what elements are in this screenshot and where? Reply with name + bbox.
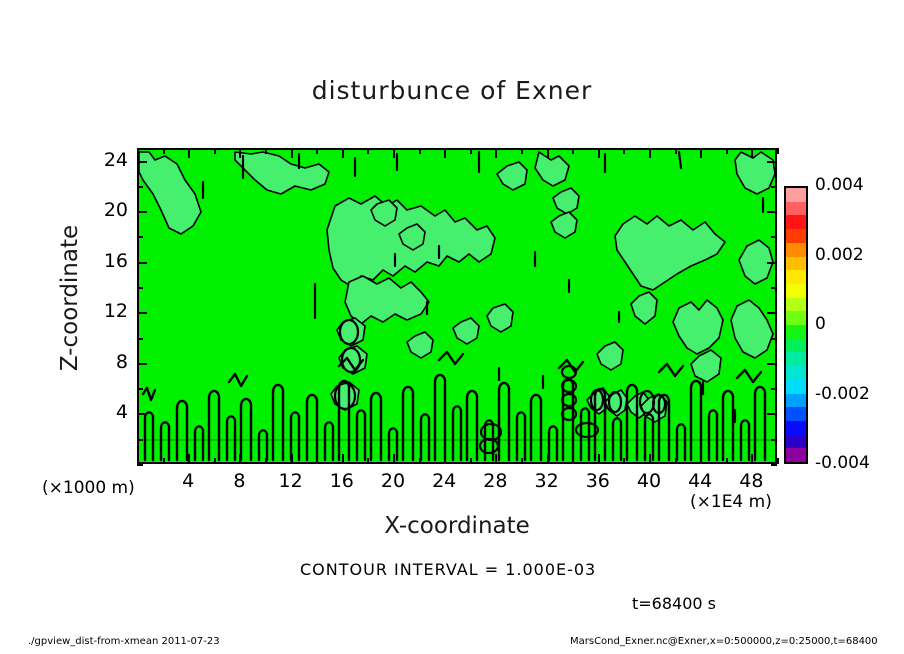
x-tick-mark (598, 454, 600, 464)
colorbar-band (786, 339, 806, 353)
x-tick-mark (291, 148, 293, 158)
colorbar (784, 186, 808, 464)
x-tick-mark (393, 454, 395, 464)
x-tick-mark (214, 458, 216, 464)
colorbar-band (786, 243, 806, 257)
x-tick-mark (495, 454, 497, 464)
y-tick-mark (771, 186, 777, 188)
x-tick-mark (547, 454, 549, 464)
y-tick-mark (771, 236, 777, 238)
x-tick-label: 4 (162, 470, 214, 492)
y-tick-mark (137, 363, 147, 365)
y-axis-unit-label: (×1000 m) (42, 478, 135, 498)
colorbar-band (786, 366, 806, 380)
x-axis-unit-label: (×1E4 m) (690, 492, 772, 512)
y-tick-mark (767, 413, 777, 415)
x-tick-mark (751, 148, 753, 158)
footer-source-label: MarsCond_Exner.nc@Exner,x=0:500000,z=0:2… (570, 636, 878, 647)
y-tick-mark (767, 312, 777, 314)
y-tick-mark (137, 287, 143, 289)
y-tick-mark (771, 287, 777, 289)
x-tick-mark (239, 454, 241, 464)
y-tick-mark (137, 413, 147, 415)
x-tick-mark (470, 148, 472, 154)
colorbar-tick-label: 0.002 (815, 245, 864, 265)
y-tick-mark (137, 236, 143, 238)
x-tick-label: 28 (469, 470, 521, 492)
x-tick-mark (444, 454, 446, 464)
x-tick-mark (419, 148, 421, 154)
colorbar-band (786, 202, 806, 216)
colorbar-band (786, 407, 806, 421)
x-tick-mark (316, 148, 318, 154)
x-tick-mark (316, 458, 318, 464)
y-tick-mark (767, 211, 777, 213)
x-tick-mark (700, 454, 702, 464)
x-tick-mark (163, 458, 165, 464)
x-tick-mark (623, 458, 625, 464)
x-tick-mark (239, 148, 241, 158)
x-tick-mark (547, 148, 549, 158)
colorbar-tick-label: -0.002 (815, 384, 870, 404)
y-tick-mark (767, 161, 777, 163)
time-label: t=68400 s (632, 594, 716, 613)
x-tick-mark (342, 454, 344, 464)
x-tick-mark (675, 458, 677, 464)
x-tick-mark (419, 458, 421, 464)
x-tick-mark (444, 148, 446, 158)
colorbar-band (786, 215, 806, 229)
x-tick-mark (367, 148, 369, 154)
y-tick-label: 20 (80, 199, 128, 221)
colorbar-band (786, 311, 806, 325)
x-tick-mark (777, 458, 779, 464)
y-tick-mark (771, 338, 777, 340)
colorbar-band (786, 298, 806, 312)
y-tick-label: 8 (80, 351, 128, 373)
y-tick-label: 24 (80, 149, 128, 171)
contour-plot-area (137, 148, 777, 464)
colorbar-band (786, 448, 806, 462)
x-tick-mark (393, 148, 395, 158)
colorbar-band (786, 352, 806, 366)
x-tick-label: 36 (572, 470, 624, 492)
y-tick-mark (137, 338, 143, 340)
x-tick-label: 40 (623, 470, 675, 492)
x-tick-label: 32 (521, 470, 573, 492)
x-tick-mark (649, 454, 651, 464)
colorbar-band (786, 229, 806, 243)
x-tick-label: 12 (265, 470, 317, 492)
x-tick-label: 24 (418, 470, 470, 492)
colorbar-band (786, 394, 806, 408)
x-tick-mark (367, 458, 369, 464)
y-tick-mark (137, 211, 147, 213)
x-tick-mark (572, 148, 574, 154)
x-tick-mark (470, 458, 472, 464)
x-tick-mark (598, 148, 600, 158)
colorbar-band (786, 325, 806, 339)
x-tick-mark (291, 454, 293, 464)
x-tick-mark (700, 148, 702, 158)
colorbar-band (786, 270, 806, 284)
x-tick-label: 20 (367, 470, 419, 492)
x-tick-mark (726, 148, 728, 154)
x-tick-mark (188, 148, 190, 158)
colorbar-band (786, 188, 806, 202)
y-tick-mark (137, 464, 143, 466)
x-tick-mark (163, 148, 165, 154)
y-tick-mark (137, 312, 147, 314)
x-tick-mark (521, 458, 523, 464)
y-tick-label: 12 (80, 300, 128, 322)
x-tick-mark (214, 148, 216, 154)
x-tick-mark (751, 454, 753, 464)
y-tick-label: 16 (80, 250, 128, 272)
x-tick-mark (623, 148, 625, 154)
footer-command-label: ./gpview_dist-from-xmean 2011-07-23 (28, 636, 220, 647)
x-tick-mark (137, 148, 139, 154)
x-tick-mark (777, 148, 779, 154)
y-tick-mark (137, 262, 147, 264)
colorbar-tick-label: 0.004 (815, 175, 864, 195)
x-tick-mark (521, 148, 523, 154)
colorbar-band (786, 284, 806, 298)
y-tick-mark (767, 363, 777, 365)
y-tick-mark (137, 439, 143, 441)
x-tick-mark (726, 458, 728, 464)
y-tick-mark (767, 262, 777, 264)
x-tick-mark (495, 148, 497, 158)
x-tick-mark (572, 458, 574, 464)
x-tick-label: 44 (674, 470, 726, 492)
contour-plot-svg (139, 150, 775, 462)
x-tick-label: 8 (213, 470, 265, 492)
contour-interval-label: CONTOUR INTERVAL = 1.000E-03 (300, 560, 596, 579)
colorbar-tick-label: 0 (815, 314, 826, 334)
y-tick-mark (771, 439, 777, 441)
y-tick-mark (137, 388, 143, 390)
page-title: disturbunce of Exner (0, 76, 904, 105)
y-tick-mark (771, 388, 777, 390)
y-tick-mark (137, 186, 143, 188)
x-tick-mark (265, 458, 267, 464)
x-tick-mark (649, 148, 651, 158)
colorbar-tick-label: -0.004 (815, 453, 870, 473)
x-tick-mark (342, 148, 344, 158)
y-tick-mark (137, 161, 147, 163)
x-tick-label: 16 (316, 470, 368, 492)
x-tick-mark (188, 454, 190, 464)
colorbar-band (786, 380, 806, 394)
colorbar-band (786, 435, 806, 449)
colorbar-band (786, 257, 806, 271)
colorbar-band (786, 421, 806, 435)
y-tick-label: 4 (80, 401, 128, 423)
x-tick-label: 48 (725, 470, 777, 492)
y-tick-mark (771, 464, 777, 466)
plot-background (139, 150, 775, 462)
y-axis-title: Z-coordinate (57, 188, 83, 408)
x-axis-title: X-coordinate (137, 513, 777, 539)
x-tick-mark (265, 148, 267, 154)
x-tick-mark (675, 148, 677, 154)
